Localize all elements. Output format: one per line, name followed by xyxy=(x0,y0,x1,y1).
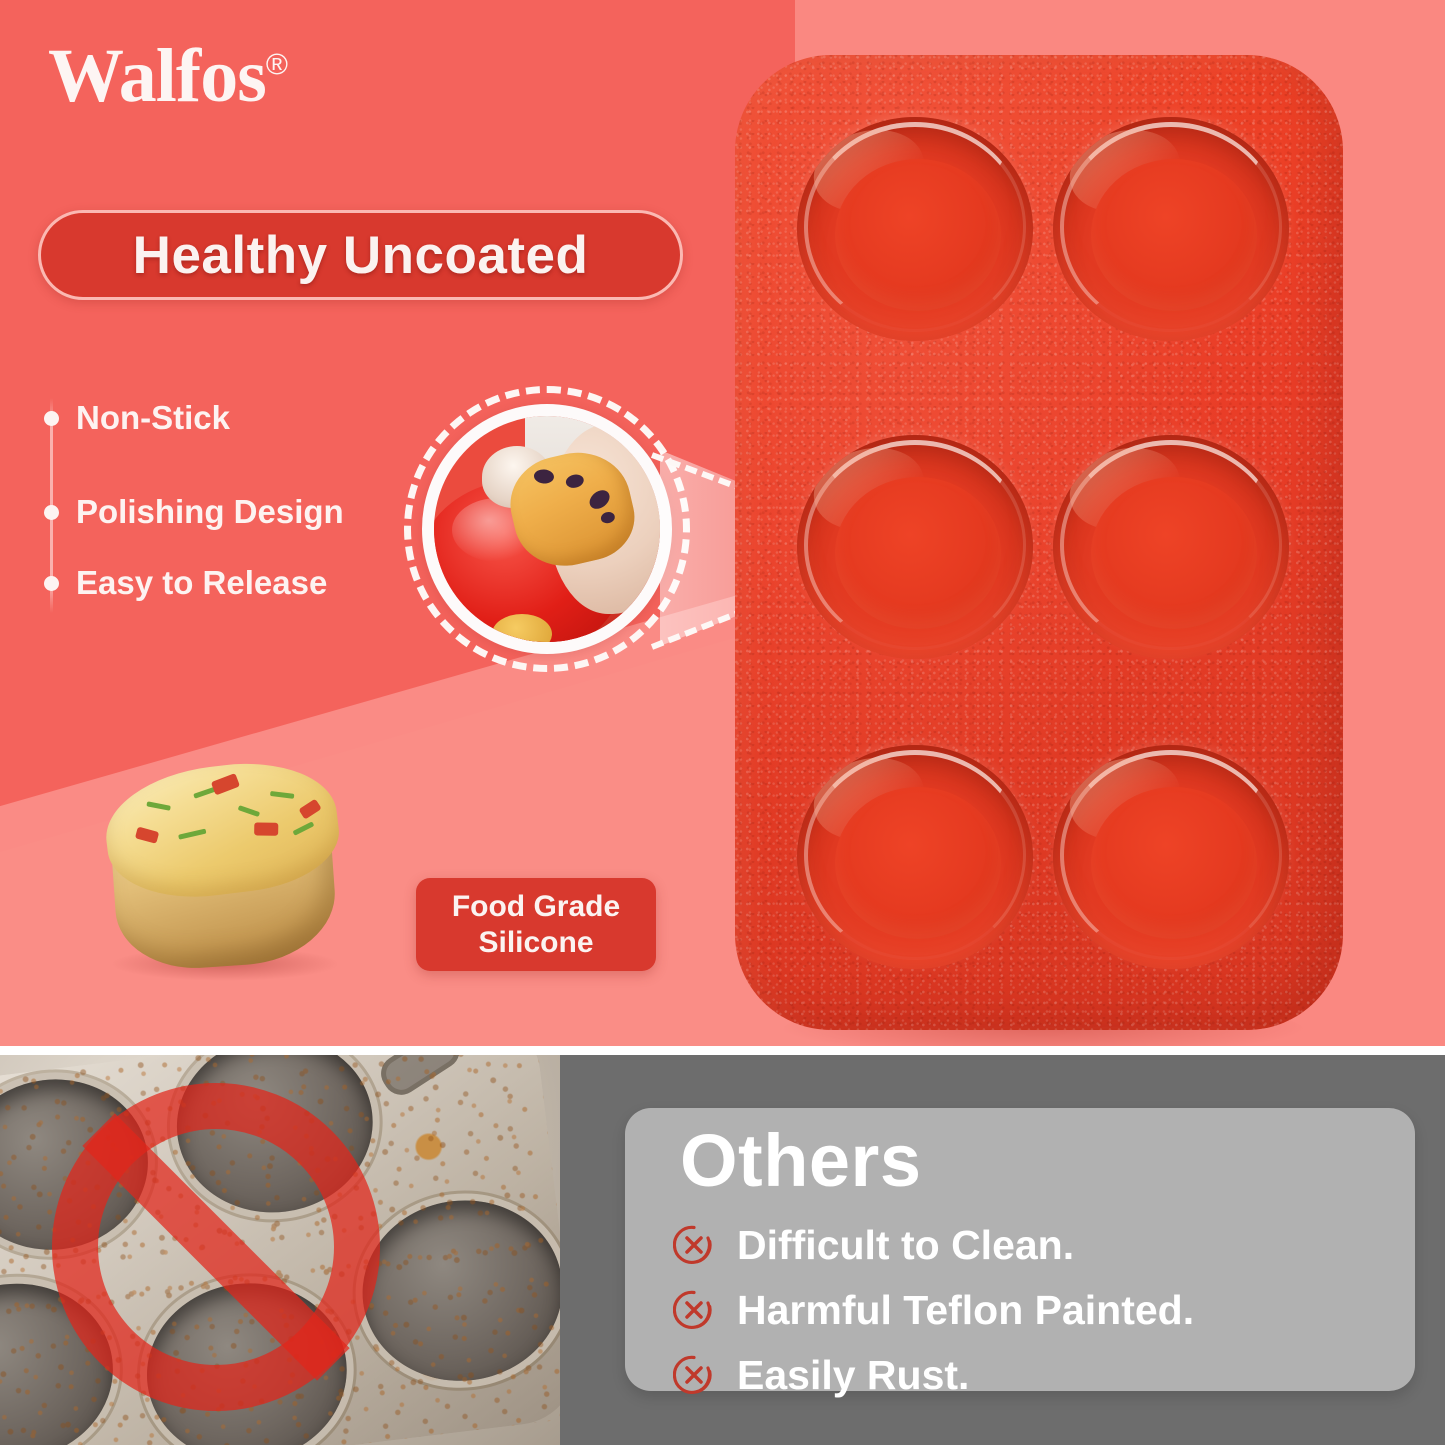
cavity-inner xyxy=(835,787,1001,939)
issue-label: Harmful Teflon Painted. xyxy=(737,1287,1194,1334)
top-feature-panel: Walfos® Healthy Uncoated Polishing Desig… xyxy=(0,0,1445,1046)
bottom-comparison-panel: Others Difficult to Clean. xyxy=(0,1055,1445,1445)
pan-cavity xyxy=(797,745,1033,969)
prohibition-sign-icon xyxy=(52,1083,380,1411)
registered-trademark-icon: ® xyxy=(266,49,287,82)
headline-badge: Healthy Uncoated xyxy=(38,210,683,300)
pan-cavity xyxy=(1053,117,1289,341)
cavity-inner xyxy=(1091,477,1257,629)
feature-item-non-stick: Non-Stick xyxy=(38,398,230,438)
pepper-piece xyxy=(298,799,321,820)
feature-label: Easy to Release xyxy=(76,564,327,602)
cavity-inner xyxy=(1091,787,1257,939)
magnifier-callout xyxy=(404,386,690,672)
circle-x-icon xyxy=(673,1289,715,1331)
chive-garnish xyxy=(238,805,260,817)
badge-line-1: Food Grade xyxy=(452,890,620,923)
feature-list: Polishing Design Easy to Release Non-Sti… xyxy=(38,398,388,613)
pepper-piece xyxy=(254,822,278,835)
rusty-pan-photo xyxy=(0,1055,560,1445)
feature-label: Polishing Design xyxy=(76,493,344,531)
bullet-dot-icon xyxy=(44,411,59,426)
pan-cavity xyxy=(797,117,1033,341)
issue-item-difficult-to-clean: Difficult to Clean. xyxy=(673,1216,1393,1274)
feature-item-polishing-design: Polishing Design xyxy=(38,492,344,532)
issue-item-harmful-teflon-painted: Harmful Teflon Painted. xyxy=(673,1281,1393,1339)
pan-cavity xyxy=(1053,435,1289,659)
bullet-dot-icon xyxy=(44,576,59,591)
brand-logo-text: Walfos xyxy=(48,34,266,118)
circle-x-icon xyxy=(673,1354,715,1396)
cavity-inner xyxy=(1091,159,1257,311)
chive-garnish xyxy=(178,829,206,840)
issue-item-easily-rust: Easily Rust. xyxy=(673,1346,1393,1404)
egg-muffin-photo xyxy=(88,752,368,977)
issue-label: Easily Rust. xyxy=(737,1352,969,1399)
product-infographic: Walfos® Healthy Uncoated Polishing Desig… xyxy=(0,0,1445,1445)
cavity-inner xyxy=(835,159,1001,311)
others-issue-list: Difficult to Clean. Harmful Teflon Paint… xyxy=(673,1216,1393,1411)
badge-line-2: Silicone xyxy=(478,926,593,959)
circle-x-icon xyxy=(673,1224,715,1266)
brand-logo: Walfos® xyxy=(48,38,287,114)
bullet-dot-icon xyxy=(44,505,59,520)
feature-item-easy-to-release: Easy to Release xyxy=(38,563,327,603)
silicone-muffin-pan xyxy=(735,55,1343,1030)
chive-garnish xyxy=(292,821,314,835)
pan-cavity xyxy=(797,435,1033,659)
pepper-piece xyxy=(135,827,159,844)
headline-text: Healthy Uncoated xyxy=(133,225,589,286)
pepper-piece xyxy=(211,773,240,795)
food-grade-silicone-badge: Food GradeSilicone xyxy=(416,878,656,971)
others-title: Others xyxy=(680,1124,922,1198)
chive-garnish xyxy=(146,801,171,810)
cavity-inner xyxy=(835,477,1001,629)
magnifier-dashed-border xyxy=(404,386,690,672)
feature-label: Non-Stick xyxy=(76,399,230,437)
others-card: Others Difficult to Clean. xyxy=(625,1108,1415,1391)
panel-divider xyxy=(0,1046,1445,1055)
issue-label: Difficult to Clean. xyxy=(737,1222,1074,1269)
badge-text: Food GradeSilicone xyxy=(452,889,620,960)
pan-body xyxy=(735,55,1343,1030)
pan-cavity xyxy=(1053,745,1289,969)
chive-garnish xyxy=(270,791,294,799)
